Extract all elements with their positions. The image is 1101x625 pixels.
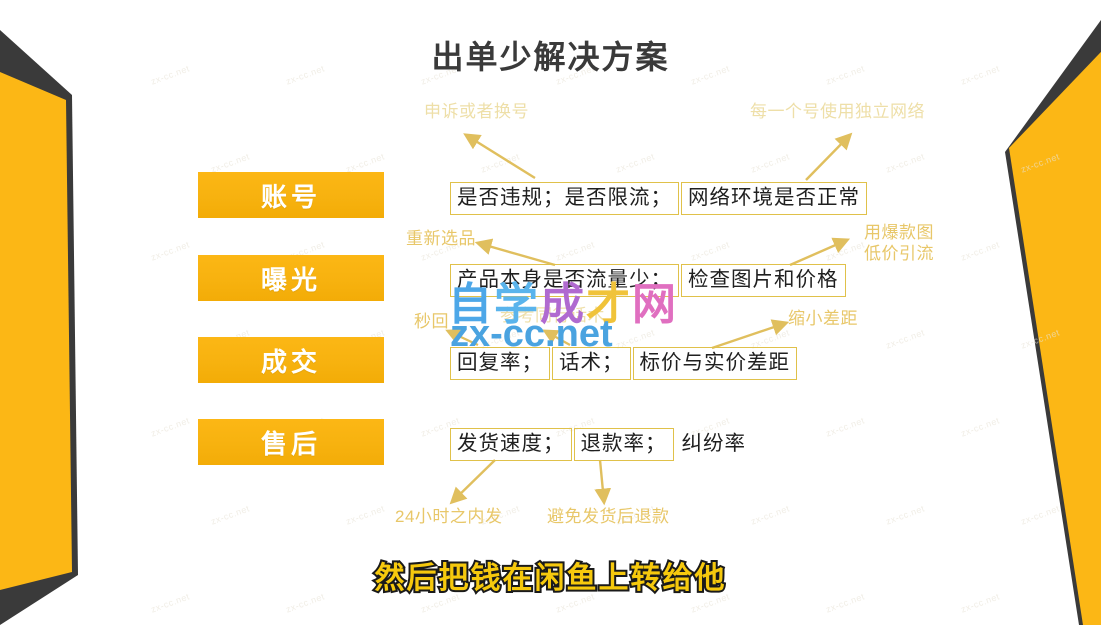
watermark-tile: zx-cc.net — [150, 415, 191, 438]
category-button-exposure[interactable]: 曝光 — [198, 255, 384, 301]
arrow-account-right — [806, 135, 850, 180]
watermark-tile: zx-cc.net — [210, 503, 251, 526]
watermark-tile: zx-cc.net — [750, 151, 791, 174]
watermark-tile: zx-cc.net — [615, 151, 656, 174]
arrow-aftersale-left — [452, 460, 495, 502]
row-account-boxes: 是否违规；是否限流； 网络环境是否正常 — [450, 182, 867, 215]
watermark-tile: zx-cc.net — [885, 327, 926, 350]
arrow-exposure-right — [790, 240, 847, 265]
category-button-account[interactable]: 账号 — [198, 172, 384, 218]
box-item[interactable]: 话术； — [552, 347, 631, 380]
category-button-aftersale[interactable]: 售后 — [198, 419, 384, 465]
arrow-aftersale-right — [600, 460, 604, 502]
watermark-tile: zx-cc.net — [885, 503, 926, 526]
box-item[interactable]: 产品本身是否流量少； — [450, 264, 679, 297]
category-label: 账号 — [261, 177, 321, 214]
annotation-reselect-product: 重新选品 — [406, 228, 476, 249]
annotation-reference-peer-script: 参考同行话术 — [500, 305, 605, 326]
left-edge-decoration — [0, 0, 140, 625]
box-item[interactable]: 发货速度； — [450, 428, 572, 461]
right-yellow-shape — [1009, 10, 1101, 625]
annotation-narrow-gap: 缩小差距 — [788, 308, 858, 329]
watermark-tile: zx-cc.net — [150, 239, 191, 262]
box-item[interactable]: 检查图片和价格 — [681, 264, 846, 297]
box-item[interactable]: 退款率； — [574, 428, 674, 461]
annotation-avoid-refund-after-ship: 避免发货后退款 — [547, 506, 670, 527]
annotation-instant-reply: 秒回 — [414, 311, 449, 332]
arrow-exposure-left — [478, 243, 555, 265]
watermark-tile: zx-cc.net — [885, 151, 926, 174]
annotation-hot-image-low-price: 用爆款图 低价引流 — [864, 222, 934, 265]
category-label: 售后 — [261, 424, 321, 461]
category-label: 曝光 — [261, 260, 321, 297]
watermark-tile: zx-cc.net — [480, 151, 521, 174]
box-item[interactable]: 回复率； — [450, 347, 550, 380]
box-item[interactable]: 是否违规；是否限流； — [450, 182, 679, 215]
right-edge-decoration — [961, 0, 1101, 625]
watermark-tile: zx-cc.net — [345, 503, 386, 526]
left-yellow-shape — [0, 55, 72, 600]
row-exposure-boxes: 产品本身是否流量少； 检查图片和价格 — [450, 264, 846, 297]
page-title: 出单少解决方案 — [0, 32, 1101, 78]
arrow-deal-center — [545, 331, 570, 345]
slide-canvas: zx-cc.netzx-cc.netzx-cc.netzx-cc.netzx-c… — [0, 0, 1101, 625]
plain-item: 纠纷率 — [674, 428, 753, 461]
watermark-tile: zx-cc.net — [750, 503, 791, 526]
annotation-appeal-or-change-account: 申诉或者换号 — [424, 101, 529, 122]
watermark-tile: zx-cc.net — [825, 415, 866, 438]
box-item[interactable]: 标价与实价差距 — [633, 347, 798, 380]
row-deal-boxes: 回复率； 话术； 标价与实价差距 — [450, 347, 797, 380]
box-item[interactable]: 网络环境是否正常 — [681, 182, 867, 215]
arrow-deal-left — [448, 331, 478, 345]
arrow-account-left — [466, 135, 535, 178]
arrow-deal-right — [712, 323, 786, 348]
category-label: 成交 — [261, 342, 321, 379]
bottom-subtitle: 然后把钱在闲鱼上转给他 — [0, 553, 1101, 597]
annotation-ship-within-24h: 24小时之内发 — [395, 506, 502, 527]
watermark-tile: zx-cc.net — [690, 239, 731, 262]
row-aftersale-boxes: 发货速度； 退款率； 纠纷率 — [450, 428, 752, 461]
watermark-tile: zx-cc.net — [555, 239, 596, 262]
category-button-deal[interactable]: 成交 — [198, 337, 384, 383]
annotation-independent-network: 每一个号使用独立网络 — [750, 101, 925, 122]
watermark-tile: zx-cc.net — [825, 239, 866, 262]
